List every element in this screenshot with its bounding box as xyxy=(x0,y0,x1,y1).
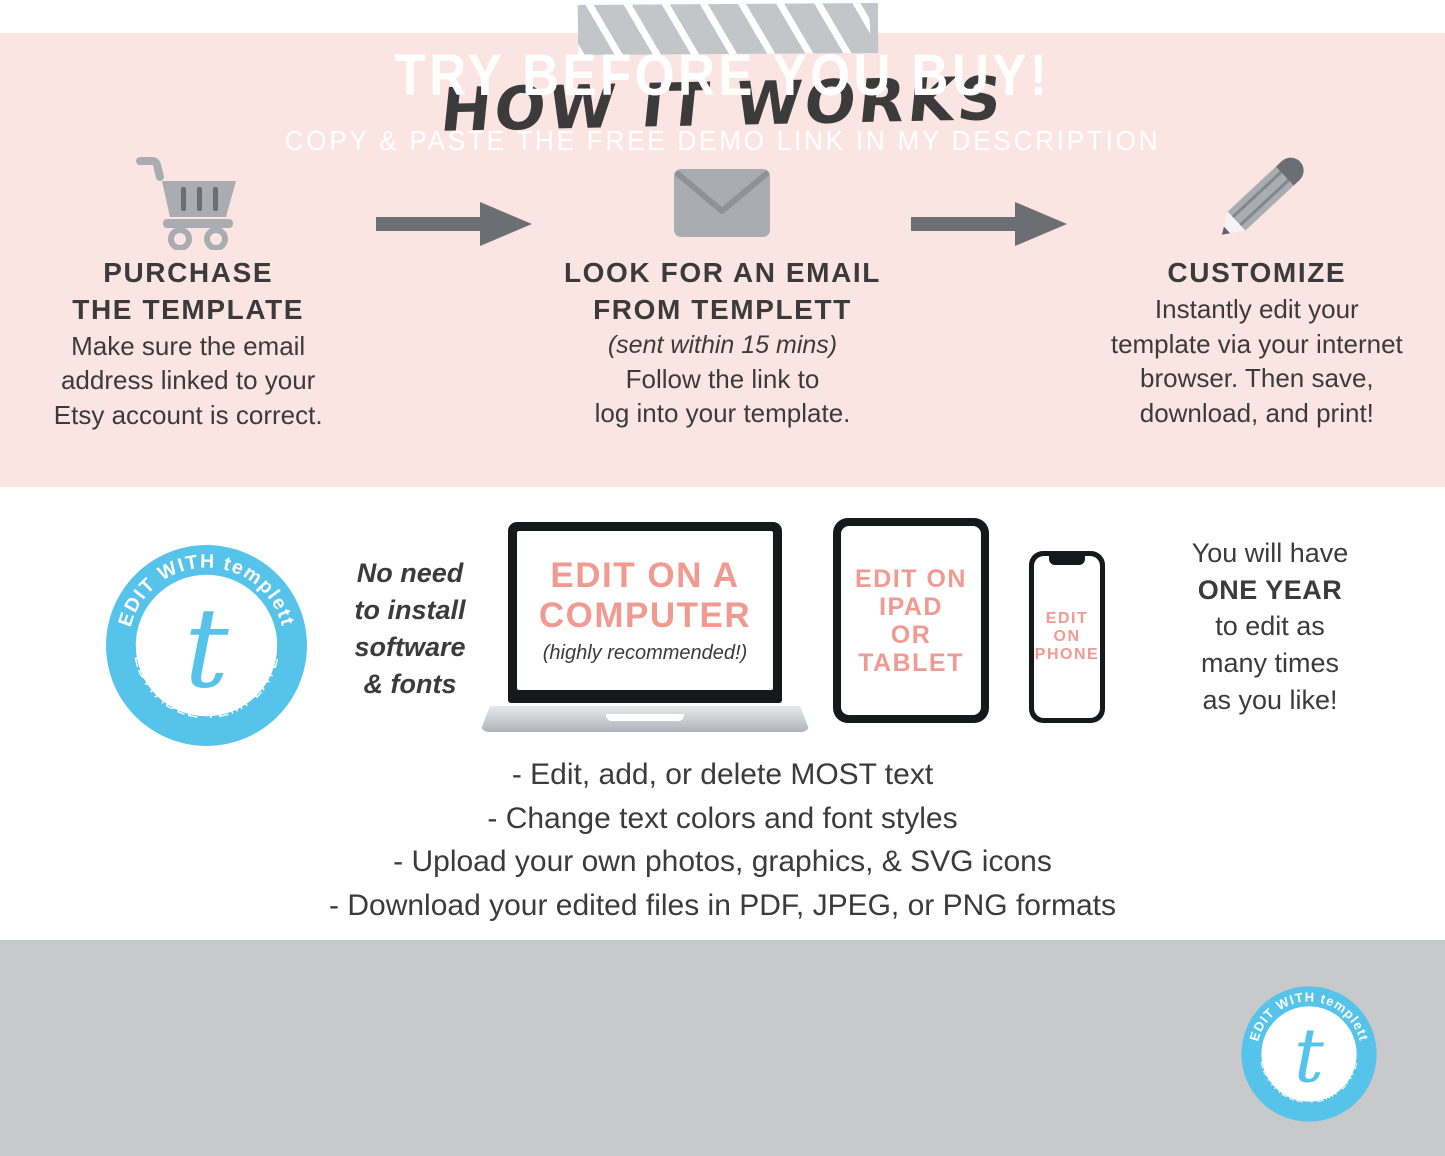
phone-screen: EDIT ON PHONE xyxy=(1034,556,1100,718)
step-2-note: (sent within 15 mins) xyxy=(534,329,910,362)
one-year-line-5: as you like! xyxy=(1125,682,1415,719)
tablet-text: EDIT ON IPAD OR TABLET xyxy=(855,565,967,677)
one-year-highlight: ONE YEAR xyxy=(1198,575,1343,605)
laptop-mockup: EDIT ON A COMPUTER (highly recommended!) xyxy=(480,522,810,732)
pencil-icon xyxy=(1203,155,1311,250)
laptop-screen: EDIT ON A COMPUTER (highly recommended!) xyxy=(517,531,773,690)
step-3-icon-slot xyxy=(1069,150,1445,255)
step-3-title: CUSTOMIZE xyxy=(1069,255,1445,292)
arrow-right-1-wrap xyxy=(376,200,534,248)
badge-letter-t: t xyxy=(184,585,229,714)
step-3-body: Instantly edit your template via your in… xyxy=(1069,292,1445,430)
step-1-icon-slot xyxy=(0,150,376,255)
one-year-line-1: You will have xyxy=(1125,535,1415,572)
tablet-mockup: EDIT ON IPAD OR TABLET xyxy=(833,518,989,723)
templett-badge-icon: EDIT WITH templett EDITABLE TEMPLATE t xyxy=(104,543,309,748)
laptop-note: (highly recommended!) xyxy=(543,642,748,665)
one-year-block: You will have ONE YEAR to edit as many t… xyxy=(1125,535,1415,719)
no-need-text: No need to install software & fonts xyxy=(330,555,490,703)
step-1-title: PURCHASE THE TEMPLATE xyxy=(0,255,376,329)
laptop-trackpad-notch xyxy=(606,714,684,721)
one-year-line-3: to edit as xyxy=(1125,608,1415,645)
one-year-line-4: many times xyxy=(1125,645,1415,682)
step-2-body: Follow the link to log into your templat… xyxy=(534,362,910,431)
step-customize: CUSTOMIZE Instantly edit your template v… xyxy=(1069,150,1445,430)
step-2-icon-slot xyxy=(534,150,910,255)
shopping-cart-icon xyxy=(136,155,241,250)
feature-bullet-list: - Edit, add, or delete MOST text - Chang… xyxy=(0,753,1445,927)
list-item: - Edit, add, or delete MOST text xyxy=(0,753,1445,797)
step-email: LOOK FOR AN EMAIL FROM TEMPLETT (sent wi… xyxy=(534,150,910,431)
envelope-icon xyxy=(672,167,772,239)
step-2-title: LOOK FOR AN EMAIL FROM TEMPLETT xyxy=(534,255,910,329)
arrow-right-icon xyxy=(376,200,534,248)
templett-badge-footer-icon: EDIT WITH templett EDITABLE TEMPLATE t xyxy=(1240,985,1378,1123)
laptop-line-2: COMPUTER xyxy=(539,596,751,635)
list-item: - Change text colors and font styles xyxy=(0,797,1445,841)
list-item: - Download your edited files in PDF, JPE… xyxy=(0,884,1445,928)
laptop-base xyxy=(480,706,810,732)
step-purchase: PURCHASE THE TEMPLATE Make sure the emai… xyxy=(0,150,376,433)
footer-title: TRY BEFORE YOU BUY! xyxy=(87,42,1359,109)
list-item: - Upload your own photos, graphics, & SV… xyxy=(0,840,1445,884)
arrow-right-2-wrap xyxy=(911,200,1069,248)
phone-notch xyxy=(1049,556,1085,565)
footer-subtitle: COPY & PASTE THE FREE DEMO LINK IN MY DE… xyxy=(51,125,1395,157)
laptop-lid: EDIT ON A COMPUTER (highly recommended!) xyxy=(508,522,782,703)
steps-row: PURCHASE THE TEMPLATE Make sure the emai… xyxy=(0,150,1445,470)
footer-bar xyxy=(0,940,1445,1156)
tablet-screen: EDIT ON IPAD OR TABLET xyxy=(841,526,981,715)
laptop-line-1: EDIT ON A xyxy=(550,556,739,595)
phone-mockup: EDIT ON PHONE xyxy=(1029,551,1105,723)
phone-text: EDIT ON PHONE xyxy=(1035,610,1099,664)
arrow-right-icon xyxy=(911,200,1069,248)
step-1-body: Make sure the email address linked to yo… xyxy=(0,329,376,433)
badge-footer-letter-t: t xyxy=(1294,1013,1325,1100)
